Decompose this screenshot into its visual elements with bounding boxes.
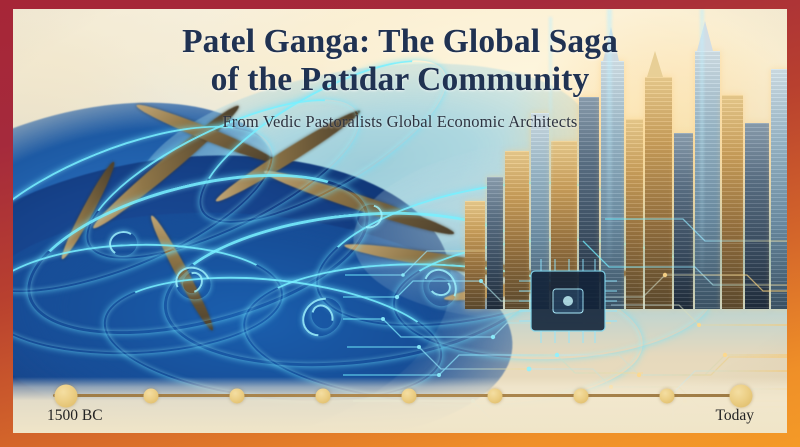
- timeline-dot-5[interactable]: [401, 388, 416, 403]
- timeline-dot-8[interactable]: [659, 388, 674, 403]
- timeline-dot-3[interactable]: [230, 388, 245, 403]
- timeline-bar: 1500 BC Today: [13, 377, 787, 433]
- title-line-2: of the Patidar Community: [53, 61, 747, 99]
- timeline-dot-7[interactable]: [574, 388, 589, 403]
- timeline-end-label: Today: [715, 407, 754, 425]
- timeline-dot-9[interactable]: [730, 384, 753, 407]
- slide-frame: Patel Ganga: The Global Saga of the Pati…: [0, 0, 800, 447]
- timeline-dot-2[interactable]: [143, 388, 158, 403]
- timeline-dot-1[interactable]: [54, 384, 77, 407]
- slide-artwork-canvas: Patel Ganga: The Global Saga of the Pati…: [13, 9, 787, 433]
- timeline-dot-4[interactable]: [316, 388, 331, 403]
- cpu-chip: [519, 259, 617, 343]
- page-subtitle: From Vedic Pastoralists Global Economic …: [13, 112, 787, 132]
- title-block: Patel Ganga: The Global Saga of the Pati…: [13, 23, 787, 132]
- page-title: Patel Ganga: The Global Saga of the Pati…: [13, 23, 787, 99]
- timeline-dot-6[interactable]: [488, 388, 503, 403]
- title-line-1: Patel Ganga: The Global Saga: [53, 23, 747, 61]
- timeline-start-label: 1500 BC: [47, 407, 103, 425]
